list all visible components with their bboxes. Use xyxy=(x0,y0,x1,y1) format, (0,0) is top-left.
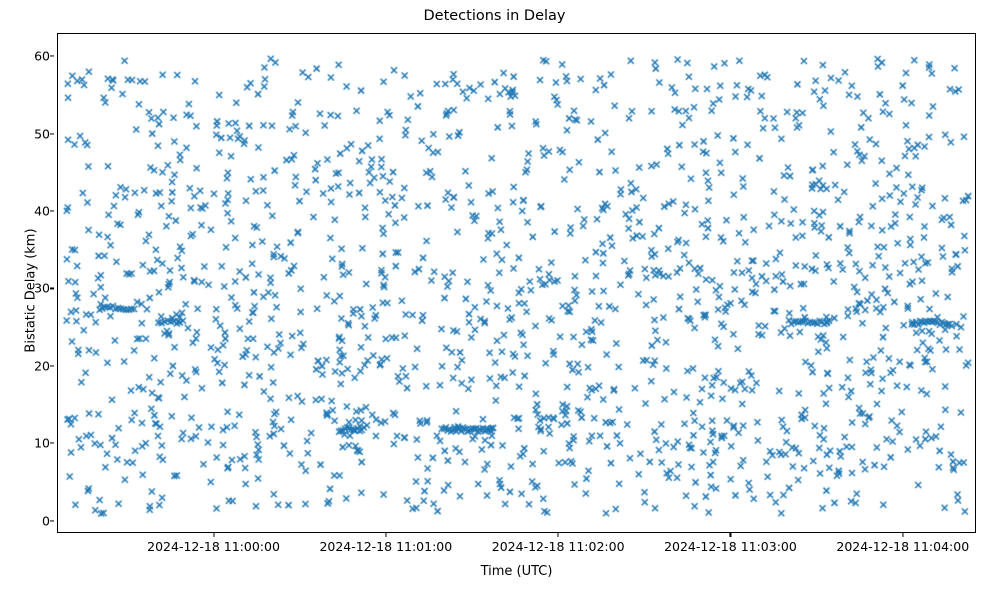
x-tick-mark xyxy=(385,533,386,537)
x-tick-mark xyxy=(558,533,559,537)
x-tick-label: 2024-12-18 11:00:00 xyxy=(147,539,280,554)
y-axis-label: Bistatic Delay (km) xyxy=(24,41,39,541)
chart-title: Detections in Delay xyxy=(0,8,989,24)
x-axis-label: Time (UTC) xyxy=(57,564,976,579)
x-tick-label: 2024-12-18 11:02:00 xyxy=(492,539,625,554)
x-tick-mark xyxy=(213,533,214,537)
y-tick-mark xyxy=(50,520,54,521)
x-tick-mark xyxy=(902,533,903,537)
y-tick-mark xyxy=(50,210,54,211)
plot-axes-area xyxy=(57,33,976,533)
x-tick-label: 2024-12-18 11:01:00 xyxy=(319,539,452,554)
x-tick-mark xyxy=(730,533,731,537)
scatter-plot-canvas xyxy=(58,34,976,533)
y-tick-mark xyxy=(50,288,54,289)
y-tick-mark xyxy=(50,133,54,134)
x-tick-label: 2024-12-18 11:03:00 xyxy=(664,539,797,554)
y-tick-mark xyxy=(50,56,54,57)
y-tick-mark xyxy=(50,443,54,444)
y-tick-mark xyxy=(50,365,54,366)
figure-canvas: Detections in Delay 0102030405060 2024-1… xyxy=(0,0,989,590)
x-tick-label: 2024-12-18 11:04:00 xyxy=(836,539,969,554)
